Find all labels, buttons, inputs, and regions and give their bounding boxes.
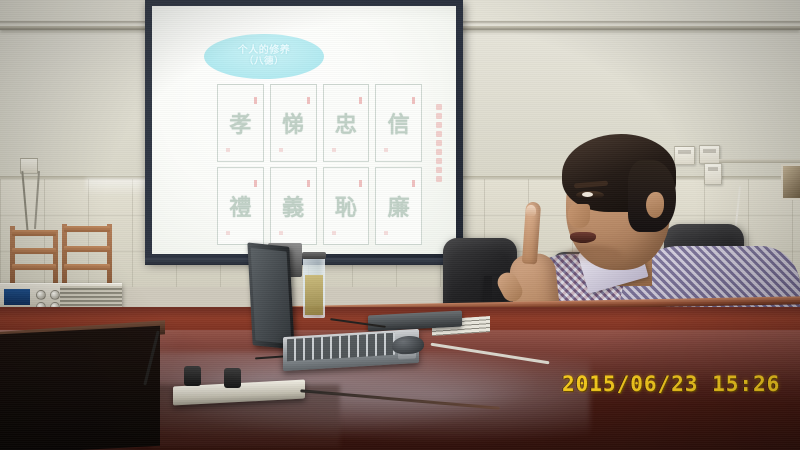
nose <box>568 204 590 228</box>
mouth <box>570 232 596 243</box>
eye-sclera <box>582 192 593 197</box>
seal-mark <box>412 97 415 104</box>
virtue-card: 悌 <box>270 84 317 162</box>
virtue-character: 忠 <box>335 107 357 139</box>
virtue-character: 悌 <box>282 107 304 139</box>
seal-mark-small <box>332 148 336 152</box>
seal-mark-small <box>332 231 336 235</box>
wooden-chair-1 <box>10 226 58 288</box>
tea-glass <box>303 256 325 318</box>
virtue-card: 孝 <box>217 84 264 162</box>
seal-mark <box>307 97 310 104</box>
fingernail <box>526 205 536 216</box>
virtue-card-grid: 孝 悌 忠 信 <box>217 84 422 245</box>
side-calligraphy-column <box>434 104 444 204</box>
virtue-card: 禮 <box>217 167 264 245</box>
seal-mark-small <box>226 148 230 152</box>
power-plug[interactable] <box>224 368 241 388</box>
seal-mark <box>359 97 362 104</box>
seal-mark-small <box>279 148 283 152</box>
slide-title-oval: 个人的修养 （八德） <box>204 34 324 79</box>
chin-shadow <box>566 246 622 264</box>
table-front-panel <box>0 326 160 450</box>
tea-liquid <box>305 275 323 315</box>
seal-mark <box>307 180 310 187</box>
seal-mark <box>359 180 362 187</box>
camera-timestamp: 2015/06/23 15:26 <box>562 372 780 396</box>
virtue-card: 恥 <box>323 167 370 245</box>
wooden-chair-2 <box>62 224 112 288</box>
seal-mark <box>254 97 257 104</box>
laptop-screen[interactable] <box>247 242 294 349</box>
virtue-card: 信 <box>375 84 422 162</box>
ear <box>646 192 664 218</box>
virtue-character: 恥 <box>335 190 357 222</box>
projection-screen: 个人的修养 （八德） 孝 悌 忠 <box>145 0 463 262</box>
seal-mark <box>254 180 257 187</box>
slide-title-line2: （八德） <box>244 57 284 68</box>
virtue-card: 廉 <box>375 167 422 245</box>
virtue-character: 義 <box>282 190 304 222</box>
amplifier-display <box>4 289 30 305</box>
power-plug[interactable] <box>184 366 201 386</box>
virtue-character: 孝 <box>229 107 251 139</box>
amplifier-knob[interactable] <box>36 290 46 300</box>
seal-mark-small <box>279 231 283 235</box>
virtue-character: 廉 <box>388 190 410 222</box>
laptop-display <box>251 248 292 344</box>
seal-mark-small <box>226 231 230 235</box>
seal-mark-small <box>384 231 388 235</box>
seal-mark <box>412 180 415 187</box>
seal-mark-small <box>384 148 388 152</box>
virtue-card: 義 <box>270 167 317 245</box>
amplifier-knob[interactable] <box>50 290 60 300</box>
glass-lid <box>302 252 326 259</box>
screen-surface: 个人的修养 （八德） 孝 悌 忠 <box>152 6 456 254</box>
virtue-card: 忠 <box>323 84 370 162</box>
virtue-character: 信 <box>388 107 410 139</box>
presentation-slide: 个人的修养 （八德） 孝 悌 忠 <box>152 6 456 254</box>
photograph: 个人的修养 （八德） 孝 悌 忠 <box>0 0 800 450</box>
virtue-character: 禮 <box>229 190 251 222</box>
